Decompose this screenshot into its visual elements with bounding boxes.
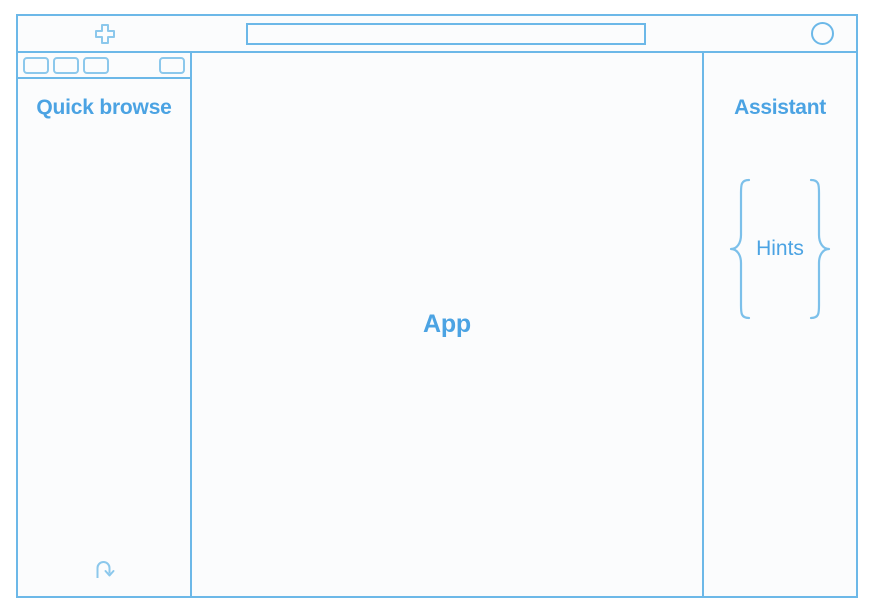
search-input[interactable] — [246, 23, 646, 45]
left-curly-brace-icon — [728, 177, 754, 321]
sidebar-title: Quick browse — [18, 79, 190, 121]
sidebar-content-area — [18, 121, 190, 542]
assistant-title: Assistant — [734, 96, 826, 120]
right-curly-brace-icon — [806, 177, 832, 321]
body-row: Quick browse App Assistant — [18, 53, 856, 596]
u-turn-arrow-icon[interactable] — [91, 556, 118, 583]
sidebar-footer — [18, 542, 190, 596]
hints-group: Hints — [704, 175, 856, 323]
sidebar-toolbar — [18, 53, 190, 79]
sidebar-panel: Quick browse — [18, 53, 192, 596]
main-app-panel: App — [192, 53, 704, 596]
main-panel-title: App — [423, 310, 471, 339]
plus-icon[interactable] — [94, 23, 116, 45]
top-bar-center-section — [192, 16, 700, 51]
app-window: Quick browse App Assistant — [16, 14, 858, 598]
sidebar-toolbar-right-group — [159, 57, 185, 74]
sidebar-tool-button-3[interactable] — [83, 57, 109, 74]
top-bar-right-section — [700, 16, 856, 51]
sidebar-tool-button-1[interactable] — [23, 57, 49, 74]
assistant-panel: Assistant Hints — [704, 53, 856, 596]
sidebar-tool-button-4[interactable] — [159, 57, 185, 74]
sidebar-tool-button-2[interactable] — [53, 57, 79, 74]
circle-avatar-icon[interactable] — [811, 22, 834, 45]
sidebar-toolbar-left-group — [23, 57, 109, 74]
hints-label: Hints — [754, 237, 806, 261]
top-bar-left-section — [18, 16, 192, 51]
top-bar — [18, 16, 856, 53]
